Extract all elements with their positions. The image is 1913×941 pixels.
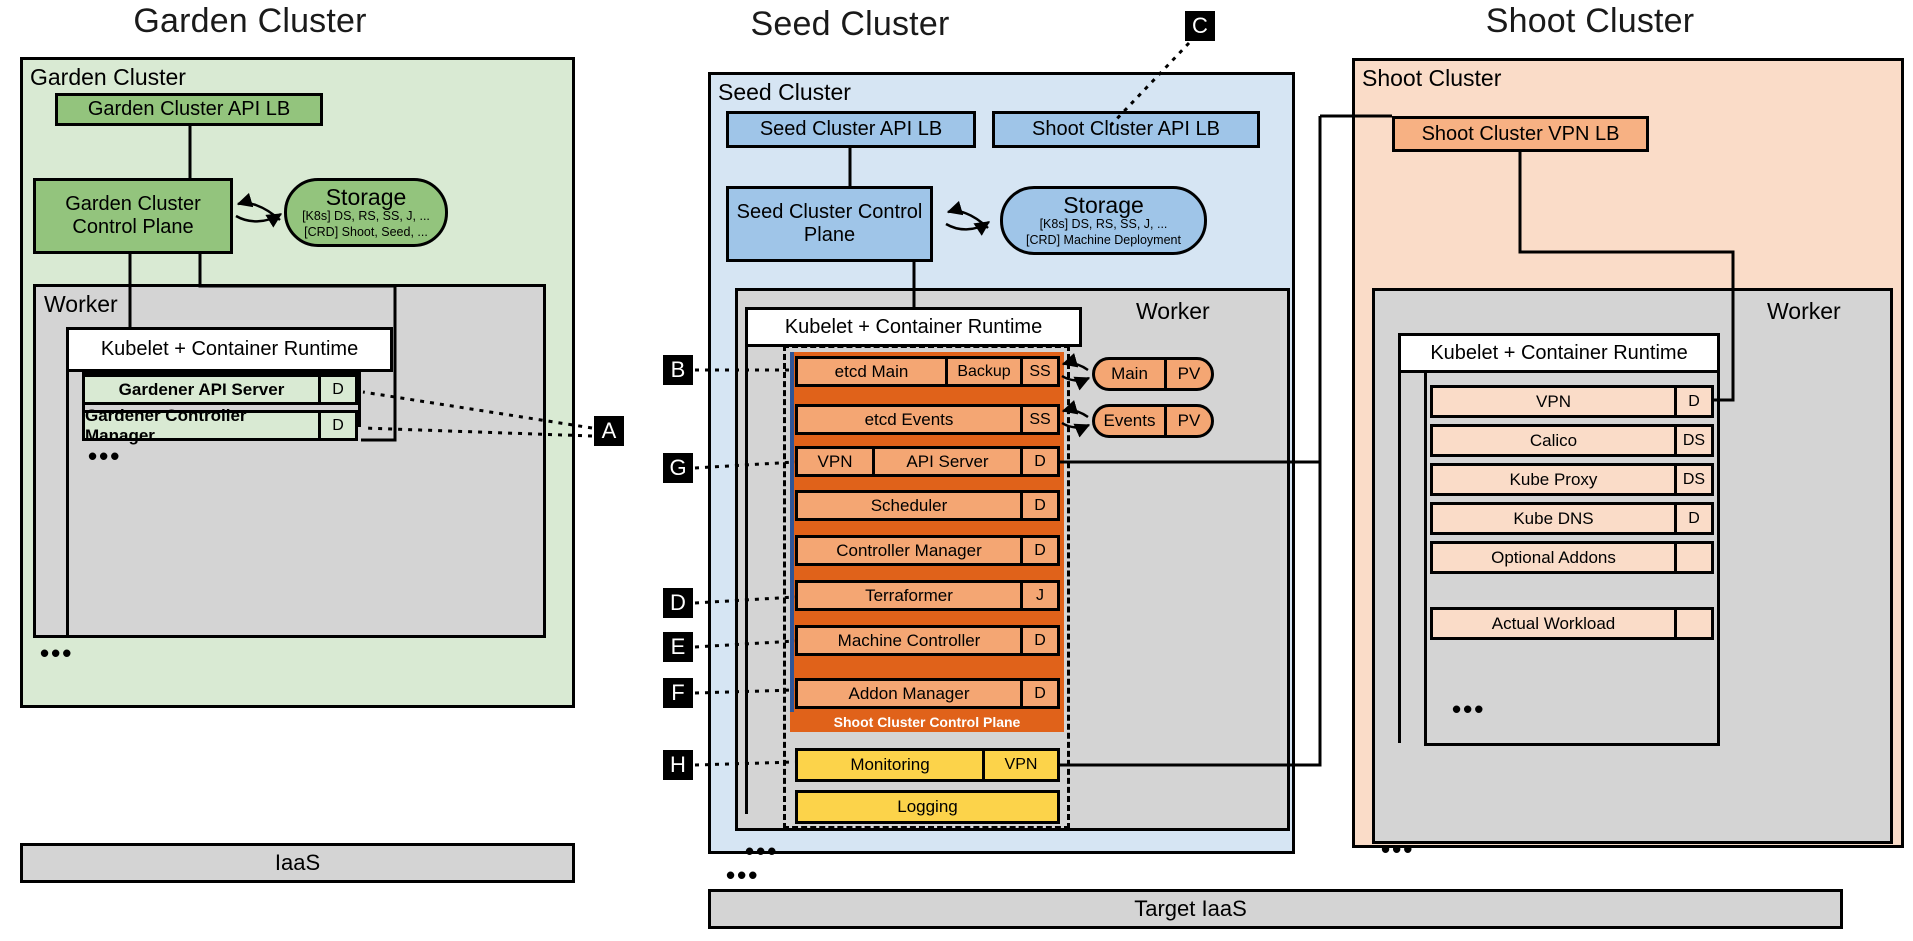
seed-extra-pod-name-0: Monitoring <box>798 751 982 779</box>
seed-cluster-label: Seed Cluster <box>718 79 851 106</box>
garden-kubelet-stem <box>66 372 69 635</box>
garden-kubelet-stem-right <box>390 327 393 372</box>
seed-volume-main: Main PV <box>1092 357 1214 391</box>
garden-pod-name-1: Gardener Controller Manager <box>85 413 318 438</box>
seed-pod-name-1: etcd Events <box>798 407 1020 432</box>
shoot-pod-kind-0: D <box>1674 388 1711 415</box>
seed-iaas-bar: Target IaaS <box>708 889 1843 929</box>
shoot-worker-ellipsis: ••• <box>1381 836 1414 862</box>
diagram-canvas: Garden Cluster Seed Cluster Shoot Cluste… <box>0 0 1913 941</box>
shoot-kubelet-stem <box>1398 373 1401 743</box>
shoot-pod-kind-2: DS <box>1674 466 1711 493</box>
seed-pod-name-7: Addon Manager <box>798 681 1020 706</box>
garden-pod-row-1[interactable]: Gardener Controller Manager D <box>82 410 358 441</box>
shoot-pod-row-0[interactable]: VPN D <box>1430 385 1714 418</box>
garden-pod-kind-1: D <box>318 413 355 438</box>
shoot-pod-name-2: Kube Proxy <box>1433 466 1674 493</box>
shoot-workload-row[interactable]: Actual Workload <box>1430 607 1714 640</box>
seed-pod-row-0[interactable]: etcd Main Backup SS <box>795 356 1060 387</box>
seed-pod-kind-6: D <box>1020 628 1057 653</box>
seed-pod-kind-1: SS <box>1020 407 1057 432</box>
shoot-pod-name-1: Calico <box>1433 427 1674 454</box>
seed-cluster-ellipsis: ••• <box>726 862 759 888</box>
seed-pod-lead-2: VPN <box>798 449 875 474</box>
shoot-cluster-title: Shoot Cluster <box>1420 2 1760 41</box>
seed-pod-row-2[interactable]: VPN API Server D <box>795 446 1060 477</box>
badge-g[interactable]: G <box>663 453 693 483</box>
seed-api-lb[interactable]: Seed Cluster API LB <box>726 111 976 148</box>
garden-worker-label: Worker <box>44 291 118 318</box>
seed-pod-name-2: API Server <box>875 449 1020 474</box>
garden-control-plane-label: Garden Cluster Control Plane <box>36 193 230 239</box>
garden-pod-kind-0: D <box>318 377 355 402</box>
seed-storage-line2: [CRD] Machine Deployment <box>1026 233 1181 249</box>
seed-pod-row-3[interactable]: Scheduler D <box>795 490 1060 521</box>
seed-kubelet-stem <box>745 347 748 814</box>
seed-volume-events: Events PV <box>1092 404 1214 438</box>
seed-pod-kind-4: D <box>1020 538 1057 563</box>
shoot-workload-name: Actual Workload <box>1433 610 1674 637</box>
badge-a[interactable]: A <box>594 416 624 446</box>
seed-pod-name-3: Scheduler <box>798 493 1020 518</box>
badge-e[interactable]: E <box>663 632 693 662</box>
garden-iaas-bar: IaaS <box>20 843 575 883</box>
seed-pod-name-6: Machine Controller <box>798 628 1020 653</box>
shoot-pod-kind-4 <box>1674 544 1711 571</box>
seed-pod-row-1[interactable]: etcd Events SS <box>795 404 1060 435</box>
seed-extra-pod-name-1: Logging <box>798 793 1057 821</box>
seed-pod-kind-7: D <box>1020 681 1057 706</box>
garden-cluster-title: Garden Cluster <box>20 2 480 41</box>
seed-worker-label: Worker <box>1136 298 1210 325</box>
garden-worker-ellipsis: ••• <box>40 640 73 666</box>
seed-pod-kind-0: SS <box>1020 359 1057 384</box>
shoot-kubelet-label: Kubelet + Container Runtime <box>1430 342 1687 365</box>
garden-kubelet-label: Kubelet + Container Runtime <box>101 338 358 361</box>
garden-api-lb[interactable]: Garden Cluster API LB <box>55 93 323 126</box>
seed-control-plane-label: Seed Cluster Control Plane <box>729 201 930 247</box>
seed-pod-kind-3: D <box>1020 493 1057 518</box>
seed-volume-main-kind: PV <box>1167 360 1211 388</box>
seed-extra-pod-row-0[interactable]: Monitoring VPN <box>795 748 1060 782</box>
garden-storage: Storage [K8s] DS, RS, SS, J, ... [CRD] S… <box>284 178 448 247</box>
shoot-pod-kind-1: DS <box>1674 427 1711 454</box>
shoot-kubelet-box: Kubelet + Container Runtime <box>1398 333 1720 373</box>
shoot-cluster-label: Shoot Cluster <box>1362 65 1501 92</box>
badge-f[interactable]: F <box>663 678 693 708</box>
seed-extra-pod-row-1[interactable]: Logging <box>795 790 1060 824</box>
shoot-workload-kind <box>1674 610 1711 637</box>
seed-volume-events-name: Events <box>1095 407 1167 435</box>
garden-pods-ellipsis: ••• <box>88 443 121 469</box>
seed-pod-row-4[interactable]: Controller Manager D <box>795 535 1060 566</box>
garden-storage-line1: [K8s] DS, RS, SS, J, ... <box>302 209 430 225</box>
seed-pod-name-0: etcd Main <box>798 359 945 384</box>
garden-iaas-label: IaaS <box>275 850 320 876</box>
garden-pod-name-0: Gardener API Server <box>85 377 318 402</box>
shoot-pod-kind-3: D <box>1674 505 1711 532</box>
shoot-pod-name-0: VPN <box>1433 388 1674 415</box>
garden-control-plane[interactable]: Garden Cluster Control Plane <box>33 178 233 254</box>
badge-d[interactable]: D <box>663 588 693 618</box>
garden-pod-row-0[interactable]: Gardener API Server D <box>82 374 358 405</box>
garden-storage-title: Storage <box>326 185 407 209</box>
shoot-pod-row-1[interactable]: Calico DS <box>1430 424 1714 457</box>
seed-pod-row-5[interactable]: Terraformer J <box>795 580 1060 611</box>
seed-storage-title: Storage <box>1063 193 1144 217</box>
seed-extra-pod-kind-0: VPN <box>982 751 1057 779</box>
seed-pod-name-5: Terraformer <box>798 583 1020 608</box>
garden-storage-line2: [CRD] Shoot, Seed, ... <box>304 225 428 241</box>
shoot-pods-ellipsis: ••• <box>1452 696 1485 722</box>
shoot-pod-row-4[interactable]: Optional Addons <box>1430 541 1714 574</box>
badge-h[interactable]: H <box>663 750 693 780</box>
seed-pod-row-7[interactable]: Addon Manager D <box>795 678 1060 709</box>
seed-storage: Storage [K8s] DS, RS, SS, J, ... [CRD] M… <box>1000 186 1207 255</box>
seed-pod-row-6[interactable]: Machine Controller D <box>795 625 1060 656</box>
seed-pod-name-4: Controller Manager <box>798 538 1020 563</box>
garden-cluster-label: Garden Cluster <box>30 64 186 91</box>
seed-pod-kind-2: D <box>1020 449 1057 474</box>
seed-volume-main-name: Main <box>1095 360 1167 388</box>
shoot-pod-row-2[interactable]: Kube Proxy DS <box>1430 463 1714 496</box>
seed-control-plane-banner-label: Shoot Cluster Control Plane <box>834 714 1021 730</box>
seed-storage-line1: [K8s] DS, RS, SS, J, ... <box>1040 217 1168 233</box>
seed-control-plane[interactable]: Seed Cluster Control Plane <box>726 186 933 262</box>
shoot-api-lb[interactable]: Shoot Cluster API LB <box>992 111 1260 148</box>
seed-volume-events-kind: PV <box>1167 407 1211 435</box>
seed-cluster-title: Seed Cluster <box>700 5 1000 44</box>
seed-control-plane-banner: Shoot Cluster Control Plane <box>790 712 1064 732</box>
badge-b[interactable]: B <box>663 355 693 385</box>
seed-pod-kind-5: J <box>1020 583 1057 608</box>
shoot-vpn-lb[interactable]: Shoot Cluster VPN LB <box>1392 116 1649 152</box>
seed-pod-mid-0: Backup <box>945 359 1020 384</box>
shoot-pod-name-3: Kube DNS <box>1433 505 1674 532</box>
seed-iaas-label: Target IaaS <box>1134 896 1247 922</box>
badge-c[interactable]: C <box>1185 11 1215 41</box>
shoot-pod-name-4: Optional Addons <box>1433 544 1674 571</box>
shoot-worker-label: Worker <box>1767 298 1841 325</box>
garden-kubelet-box: Kubelet + Container Runtime <box>66 327 393 372</box>
seed-kubelet-box: Kubelet + Container Runtime <box>745 307 1082 347</box>
shoot-pod-row-3[interactable]: Kube DNS D <box>1430 502 1714 535</box>
seed-kubelet-label: Kubelet + Container Runtime <box>785 316 1042 339</box>
